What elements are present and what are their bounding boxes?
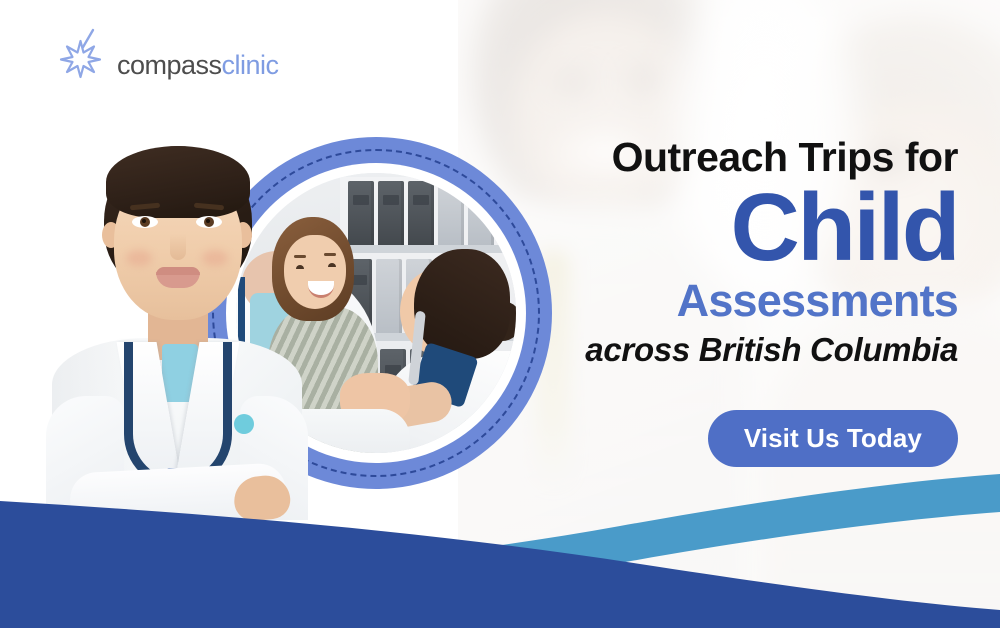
- foreground-doctor-photo: [52, 146, 302, 518]
- photo-girl-brow: [324, 253, 336, 256]
- promo-banner: compassclinic Outreach Trips for Child A…: [0, 0, 1000, 628]
- doctor-nose: [170, 234, 186, 260]
- brand-name: compassclinic: [117, 52, 279, 79]
- headline-block: Outreach Trips for Child Assessments acr…: [528, 136, 958, 369]
- doctor-hair-front: [106, 146, 250, 218]
- coat-badge: [234, 414, 254, 434]
- doctor-eye-left: [132, 216, 158, 228]
- binder: [468, 181, 494, 245]
- headline-line-1: Outreach Trips for: [528, 136, 958, 179]
- binder: [438, 181, 464, 245]
- brand-logo[interactable]: compassclinic: [55, 28, 275, 90]
- doctor-eye-right: [196, 216, 222, 228]
- bg-woman-eye-left: [550, 72, 596, 92]
- compass-starburst-icon: [55, 28, 117, 86]
- cta-container: Visit Us Today: [708, 410, 958, 467]
- binder: [376, 259, 402, 333]
- headline-line-4: across British Columbia: [528, 332, 958, 368]
- shelf-board: [340, 245, 516, 253]
- headline-line-3: Assessments: [528, 277, 958, 324]
- binder: [348, 181, 374, 245]
- visit-us-today-button[interactable]: Visit Us Today: [708, 410, 958, 467]
- headline-line-2: Child: [528, 181, 958, 275]
- brand-name-part1: compass: [117, 50, 222, 80]
- binder: [408, 181, 434, 245]
- doctor-cheek-right: [202, 250, 228, 266]
- binder: [378, 181, 404, 245]
- brand-name-part2: clinic: [222, 50, 279, 80]
- doctor-cheek-left: [126, 250, 152, 266]
- photo-girl-eye: [328, 263, 336, 267]
- bg-woman-eye-right: [622, 70, 668, 90]
